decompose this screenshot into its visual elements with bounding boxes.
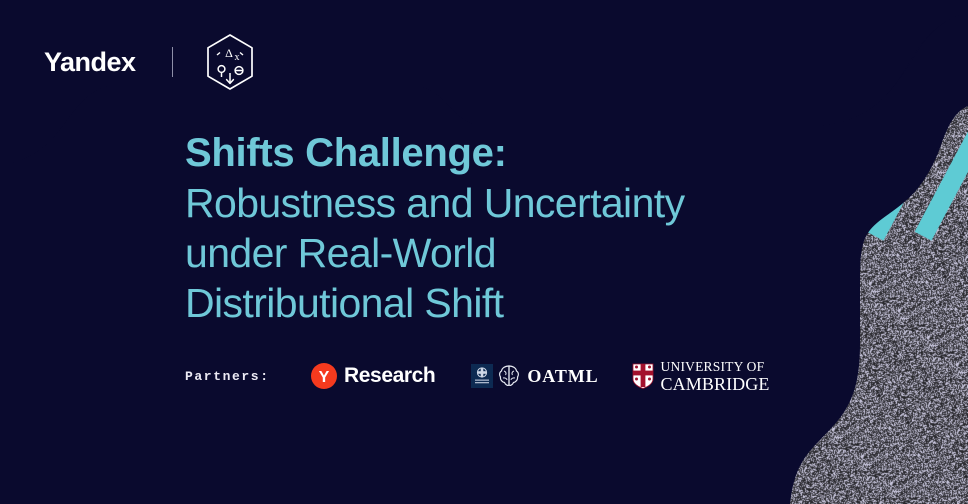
header: Yandex Δ x <box>44 33 256 91</box>
partner-logo-oatml[interactable]: OATML <box>471 363 598 389</box>
svg-text:Δ: Δ <box>225 46 233 60</box>
title-line-3: under Real-World <box>185 228 885 278</box>
partners-label: Partners: <box>185 369 311 384</box>
content-layer: Yandex Δ x Shif <box>0 0 968 504</box>
header-divider <box>172 47 173 77</box>
shifts-hexagon-icon[interactable]: Δ x <box>204 33 256 91</box>
title-line-4: Distributional Shift <box>185 278 885 328</box>
partner-logo-cambridge[interactable]: UNIVERSITY OF CAMBRIDGE <box>631 360 770 393</box>
cambridge-line-2: CAMBRIDGE <box>661 375 770 393</box>
partner-label-cambridge: UNIVERSITY OF CAMBRIDGE <box>661 360 770 393</box>
title-line-1: Shifts Challenge: <box>185 128 885 178</box>
title-line-2: Robustness and Uncertainty <box>185 178 885 228</box>
oxford-crest-icon <box>471 363 493 389</box>
poster-canvas: Yandex Δ x Shif <box>0 0 968 504</box>
svg-text:Y: Y <box>319 369 330 386</box>
partner-label-research: Research <box>344 364 435 388</box>
partner-label-oatml: OATML <box>527 366 598 387</box>
partners-row: Partners: Y Research <box>185 360 769 393</box>
yandex-research-mark-icon: Y <box>311 363 337 389</box>
cambridge-line-1: UNIVERSITY OF <box>661 360 770 374</box>
partner-logo-yandex-research[interactable]: Y Research <box>311 363 435 389</box>
svg-text:x: x <box>234 52 239 63</box>
poster-title: Shifts Challenge: Robustness and Uncerta… <box>185 128 885 328</box>
yandex-wordmark[interactable]: Yandex <box>44 49 136 76</box>
cambridge-crest-icon <box>631 362 655 390</box>
oatml-brain-icon <box>497 363 521 389</box>
